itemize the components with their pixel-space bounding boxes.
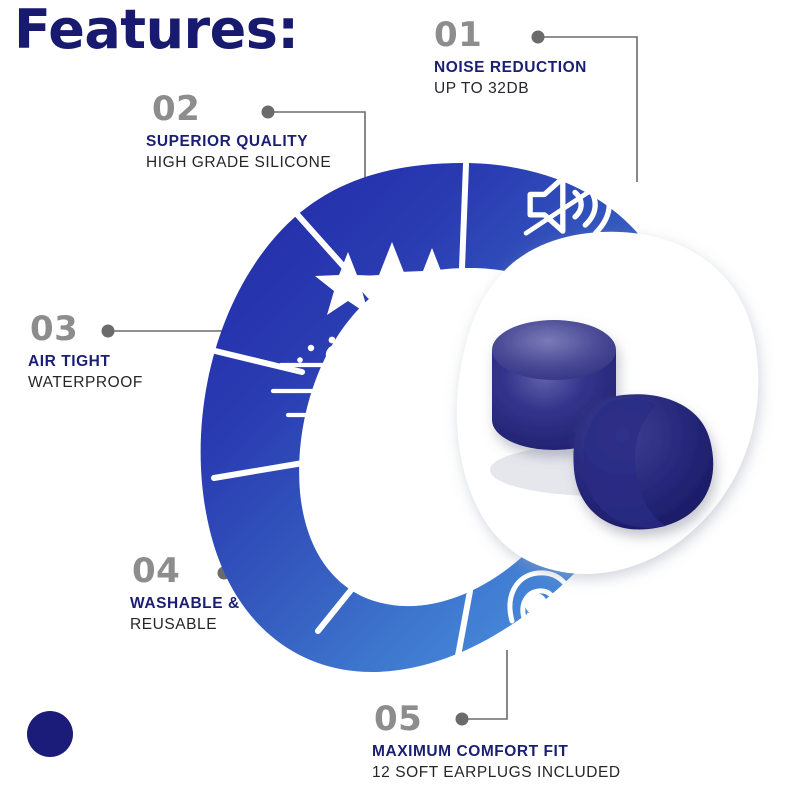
divider-1 [462,164,466,268]
feature-number-03: 03 [30,312,143,346]
feature-subtitle-03: WATERPROOF [28,375,143,391]
feature-callout-04: 04 WASHABLE & REUSABLE [130,554,240,632]
brand-dot [27,711,73,757]
feature-number-04: 04 [132,554,240,588]
feature-title-02: SUPERIOR QUALITY [146,134,331,150]
feature-subtitle-05: 12 SOFT EARPLUGS INCLUDED [372,765,621,781]
feature-title-04: WASHABLE & [130,596,240,612]
infographic-canvas: Features: [0,0,800,800]
feature-subtitle-02: HIGH GRADE SILICONE [146,155,331,171]
feature-callout-02: 02 SUPERIOR QUALITY HIGH GRADE SILICONE [146,92,331,170]
feature-number-01: 01 [434,18,587,52]
feature-number-02: 02 [152,92,331,126]
feature-title-01: NOISE REDUCTION [434,60,587,76]
features-ring-graphic [0,0,800,800]
feature-number-05: 05 [374,702,621,736]
feature-title-05: MAXIMUM COMFORT FIT [372,744,621,760]
ear-lobe-fill [525,593,547,615]
feature-callout-03: 03 AIR TIGHT WATERPROOF [28,312,143,390]
feature-subtitle-04: REUSABLE [130,617,240,633]
feature-callout-01: 01 NOISE REDUCTION UP TO 32DB [434,18,587,96]
earplug-rounded [573,394,713,529]
feature-callout-05: 05 MAXIMUM COMFORT FIT 12 SOFT EARPLUGS … [372,702,621,780]
ear-tragus [527,612,536,632]
feature-title-03: AIR TIGHT [28,354,143,370]
feature-subtitle-01: UP TO 32DB [434,81,587,97]
